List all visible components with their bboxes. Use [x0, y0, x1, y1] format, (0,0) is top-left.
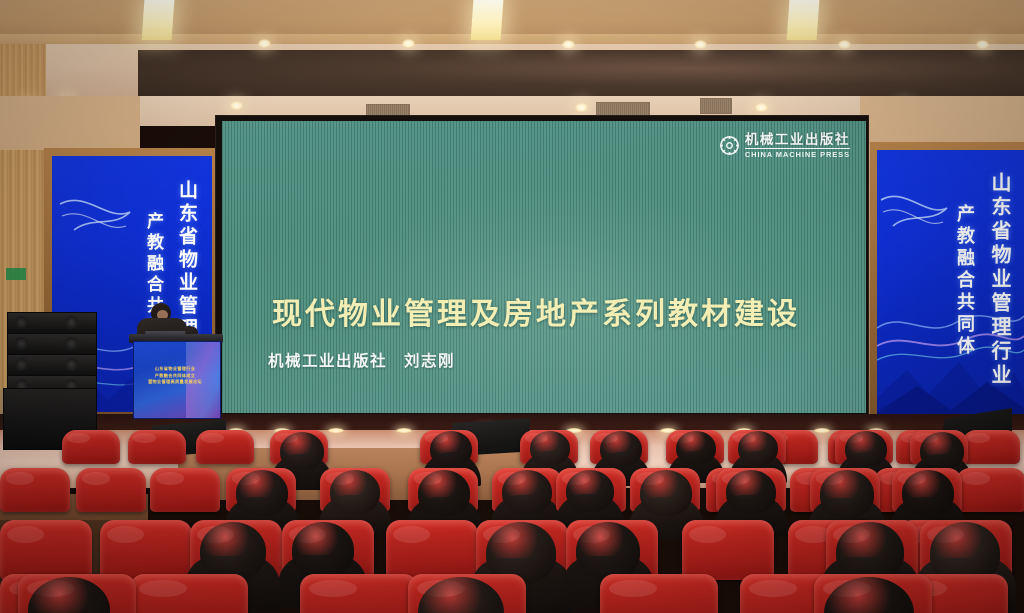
audience-member-head [920, 432, 964, 470]
ceiling-troffer-light [471, 0, 504, 40]
audience-seat [128, 430, 186, 464]
audience-seat [196, 430, 254, 464]
audience-member-head [845, 431, 887, 467]
audience-member-head [530, 431, 570, 465]
audience-member-head [418, 470, 470, 516]
speaker-cone [15, 316, 28, 329]
audience-member-head [330, 470, 380, 514]
exit-sign [6, 268, 26, 280]
slide-subtitle: 机械工业出版社 刘志刚 [268, 349, 455, 371]
ceiling-downlight [838, 40, 851, 49]
audience-member-head [820, 470, 874, 518]
audience-member-head [738, 431, 778, 465]
speaker-cone [15, 358, 28, 371]
audience-member-head [236, 470, 288, 516]
publisher-logo: 机械工业出版社 CHINA MACHINE PRESS [719, 133, 850, 158]
ceiling-downlight [230, 101, 243, 110]
audience-seat [0, 520, 92, 580]
podium: 山东省物业管理行业 产教融合共同体成立 暨物业管理高质量发展论坛 [133, 341, 221, 419]
ceiling-wood-trim [0, 44, 46, 104]
audience-member-head [292, 522, 354, 578]
audience-seat [62, 430, 120, 464]
ceiling-downlight [562, 40, 575, 49]
audience-seat [130, 574, 248, 613]
audience-seat [682, 520, 774, 580]
audience-member-head [726, 470, 776, 514]
main-led-screen[interactable]: 机械工业出版社 CHINA MACHINE PRESS 现代物业管理及房地产系列… [222, 121, 866, 413]
audience-seat [150, 468, 220, 512]
publisher-name-en: CHINA MACHINE PRESS [745, 151, 850, 159]
auditorium-screenshot: 山东省物业管理行业 产教融合共同体 山东省物业管理行业 产教融合共同体 [0, 0, 1024, 613]
slide-title: 现代物业管理及房地产系列教材建设 [272, 289, 800, 333]
speaker-cone [15, 337, 28, 350]
audience-member-head [502, 470, 552, 514]
audience-member-head [600, 431, 642, 467]
speaker-cone [65, 337, 78, 350]
audience-member-head [200, 522, 266, 580]
ceiling-downlight [755, 103, 768, 112]
podium-sign-text: 山东省物业管理行业 产教融合共同体成立 暨物业管理高质量发展论坛 [142, 366, 208, 386]
podium-sign-line-3: 暨物业管理高质量发展论坛 [142, 379, 208, 386]
ceiling-downlight [575, 103, 588, 112]
audience-member-head [836, 522, 904, 582]
audience-seat [386, 520, 478, 580]
audience-member-head [576, 522, 640, 580]
cog-gear-logo-icon [719, 135, 740, 156]
audience-seat [0, 468, 70, 512]
ceiling-recess-dark [138, 50, 1024, 96]
audience-seat [76, 468, 146, 512]
audience-seat [962, 430, 1020, 464]
right-banner-sub-text: 产教融合共同体 [952, 204, 978, 380]
ceiling-downlight [258, 39, 271, 48]
right-banner-main-text: 山东省物业管理行业 [985, 172, 1014, 382]
audience-member-head [676, 431, 716, 465]
audience-seating-area [0, 424, 1024, 613]
audience-member-head [902, 470, 954, 516]
ceiling-troffer-light [787, 0, 820, 40]
audience-member-head [430, 431, 472, 467]
ceiling-troffer-light [142, 0, 175, 40]
right-banner-screen: 山东省物业管理行业 产教融合共同体 [877, 150, 1024, 422]
audience-seat [300, 574, 418, 613]
audience-seat [100, 520, 192, 580]
ceiling-downlight [402, 39, 415, 48]
speaker-cone [65, 358, 78, 371]
presenter-laptop [145, 331, 186, 338]
ceiling-vent-right [700, 98, 732, 114]
audience-member-head [640, 470, 692, 516]
audience-member-head [280, 432, 324, 470]
audience-seat [956, 468, 1024, 512]
speaker-cone [65, 316, 78, 329]
audience-seat [600, 574, 718, 613]
publisher-logo-text: 机械工业出版社 CHINA MACHINE PRESS [745, 133, 850, 158]
ceiling-downlight [694, 40, 707, 49]
publisher-name-cn: 机械工业出版社 [745, 133, 850, 149]
ceiling-downlight [976, 40, 989, 49]
audience-member-head [566, 470, 614, 512]
